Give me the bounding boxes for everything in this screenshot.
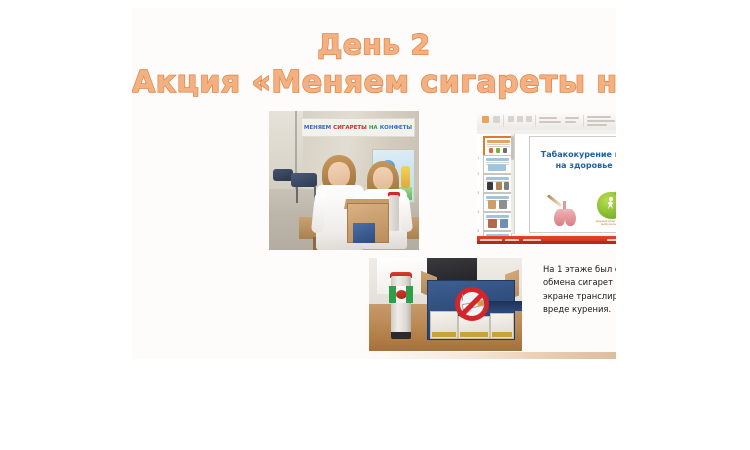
candy-tube-base bbox=[391, 332, 411, 339]
banner-word-4: КОНФЕТЫ bbox=[380, 125, 412, 131]
wall-banner: МЕНЯЕМ СИГАРЕТЫ НА КОНФЕТЫ bbox=[301, 118, 415, 137]
slide-caption-text: На 1 этаже был организован пункт обмена … bbox=[543, 263, 616, 317]
thumbnail-number-1: 1 bbox=[478, 156, 480, 160]
thumbnail-number-3: 3 bbox=[478, 191, 480, 195]
slide-title-line-1: День 2 bbox=[132, 28, 616, 61]
thumbnail-scrollbar[interactable] bbox=[511, 134, 514, 234]
slide-editing-stage[interactable]: Табакокурение и его влияние на здоровье … bbox=[515, 134, 616, 234]
slide-bottom-gradient-band bbox=[132, 352, 616, 359]
slide-thumbnail-panel[interactable]: 1 2 3 4 bbox=[477, 134, 515, 234]
cigarette-pack-3 bbox=[490, 313, 514, 339]
powerpoint-status-bar-shadow bbox=[477, 241, 616, 244]
presentation-slide: День 2 Акция «Меняем сигареты на конфеты… bbox=[132, 8, 616, 358]
slide-image-row: здоровый образ жизни — выбор молодых! bbox=[548, 186, 616, 226]
banner-word-2: СИГАРЕТЫ bbox=[333, 125, 367, 131]
thumbnail-number-2: 2 bbox=[478, 172, 480, 176]
slide-title-line-2: Акция «Меняем сигареты на конфеты» bbox=[132, 65, 616, 100]
green-apple-with-figure-image: здоровый образ жизни — выбор молодых! bbox=[595, 188, 617, 226]
thumbnail-number-4: 4 bbox=[478, 210, 480, 214]
slide-thumbnail-4[interactable] bbox=[483, 193, 512, 212]
slide-thumbnail-5[interactable] bbox=[483, 212, 512, 231]
cigarette-pack-1 bbox=[430, 311, 458, 339]
candy-tube-label bbox=[390, 286, 412, 303]
photo-two-students-at-exchange-table: МЕНЯЕМ СИГАРЕТЫ НА КОНФЕТЫ bbox=[269, 111, 419, 250]
no-smoking-icon bbox=[455, 287, 489, 321]
powerpoint-ribbon bbox=[477, 113, 616, 131]
current-slide-canvas[interactable]: Табакокурение и его влияние на здоровье … bbox=[529, 136, 616, 233]
slide-thumbnail-2[interactable] bbox=[483, 155, 512, 174]
blue-package bbox=[353, 223, 375, 243]
photo-powerpoint-screenshot: 1 2 3 4 bbox=[477, 113, 616, 244]
banner-word-3: НА bbox=[369, 125, 378, 131]
banner-word-1: МЕНЯЕМ bbox=[304, 125, 331, 131]
photo-candy-tube-and-donation-box: Bullet Box for cigarettes bbox=[369, 258, 522, 351]
candy-tube bbox=[389, 195, 399, 231]
slide-thumbnail-1[interactable] bbox=[483, 136, 514, 157]
lungs-with-cigarette-image bbox=[548, 194, 580, 226]
apple-image-caption: здоровый образ жизни — выбор молодых! bbox=[595, 220, 617, 226]
presentation-slide-title: Табакокурение и его влияние на здоровье … bbox=[538, 149, 616, 171]
corridor-chair-far bbox=[273, 169, 293, 195]
slide-thumbnail-3[interactable] bbox=[483, 174, 512, 193]
thumbnail-number-5: 5 bbox=[478, 229, 480, 233]
